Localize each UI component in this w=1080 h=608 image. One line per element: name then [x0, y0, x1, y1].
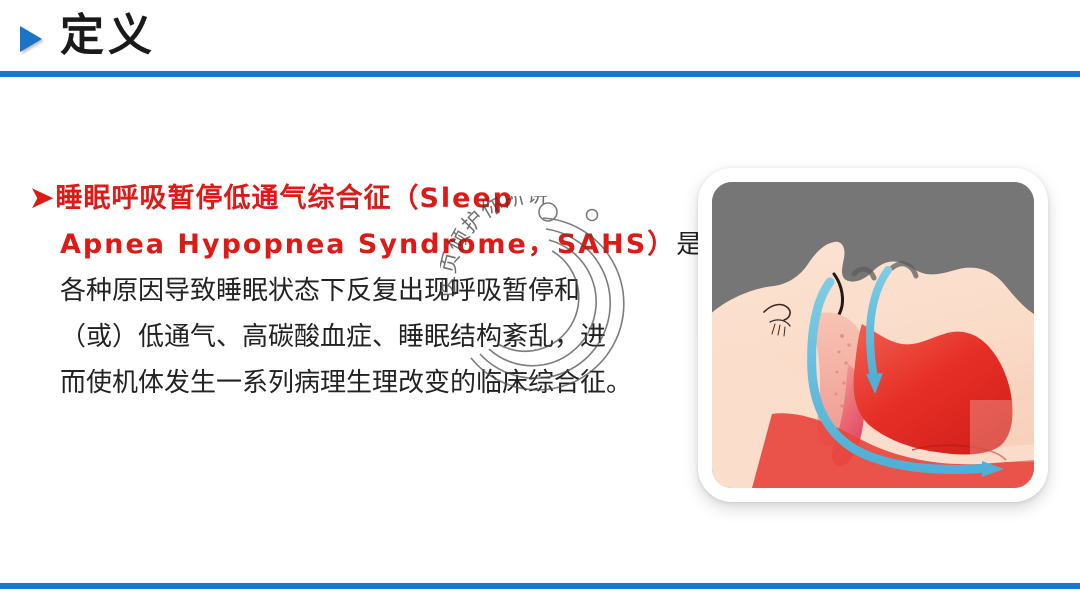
page-title: 定义	[60, 6, 156, 66]
definition-text-block: ➤睡眠呼吸暂停低通气综合征（Sleep Apnea Hypopnea Syndr…	[30, 175, 670, 406]
header-divider	[0, 71, 1080, 77]
slide-header: 定义	[0, 0, 1080, 73]
definition-line-1-cn: 睡眠呼吸暂停低通气综合征（	[55, 183, 419, 214]
definition-line-2: Apnea Hypopnea Syndrome，SAHS）是指	[30, 222, 670, 268]
sleep-apnea-airway-illustration	[712, 182, 1034, 488]
definition-line-4: （或）低通气、高碳酸血症、睡眠结构紊乱，进	[30, 314, 670, 360]
definition-line-2-en: Apnea Hypopnea Syndrome，SAHS）	[60, 229, 676, 260]
figure-frame	[698, 168, 1048, 502]
triangle-right-icon	[20, 26, 42, 52]
definition-line-1: ➤睡眠呼吸暂停低通气综合征（Sleep	[30, 175, 670, 222]
arrow-bullet-icon: ➤	[30, 181, 53, 214]
footer-divider	[0, 583, 1080, 589]
slide-root: 定义 ➤睡眠呼吸暂停低通气综合征（Sleep Apnea Hypopnea Sy…	[0, 0, 1080, 608]
definition-line-3: 各种原因导致睡眠状态下反复出现呼吸暂停和	[30, 268, 670, 314]
definition-line-1-en: Sleep	[419, 183, 514, 214]
definition-line-5: 而使机体发生一系列病理生理改变的临床综合征。	[30, 360, 670, 406]
